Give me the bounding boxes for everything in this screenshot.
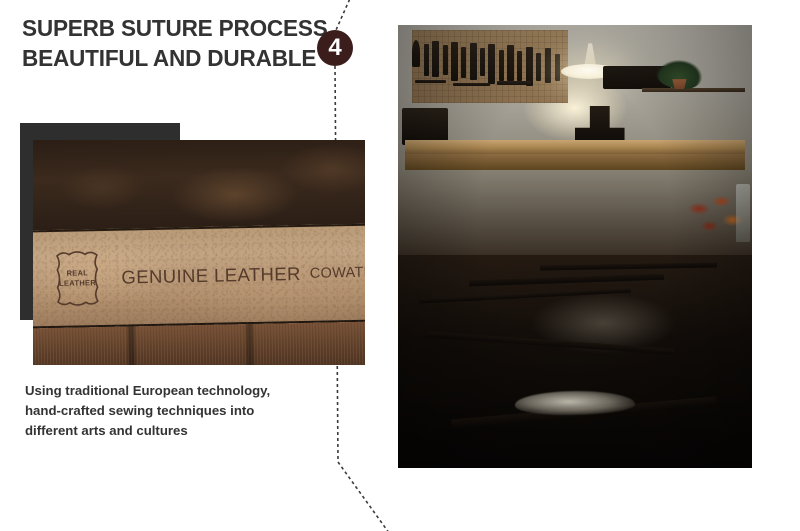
- caption-line-1: Using traditional European technology,: [25, 381, 325, 401]
- brand-name-text: COWATHER: [310, 264, 365, 282]
- caption-line-2: hand-crafted sewing techniques into: [25, 401, 325, 421]
- leather-strip: [419, 288, 631, 303]
- leather-strip: [469, 273, 664, 286]
- leather-strip: [426, 332, 674, 356]
- workshop-photo: [398, 25, 752, 468]
- connector-segment-bottom: [338, 462, 392, 531]
- step-number-label: 4: [328, 36, 341, 60]
- tool-icon: [497, 81, 531, 85]
- tool-icon: [443, 45, 448, 75]
- bottle: [736, 184, 750, 242]
- shield-line-1: REAL: [66, 268, 88, 279]
- leather-press: [575, 106, 625, 143]
- promo-banner: SUPERB SUTURE PROCESS. BEAUTIFUL AND DUR…: [0, 0, 800, 531]
- white-cloth: [515, 391, 635, 414]
- tool-icon: [507, 45, 514, 81]
- real-leather-shield-icon: REAL LEATHER: [49, 247, 106, 310]
- workbench-top: [405, 140, 745, 154]
- page-title-line-1: SUPERB SUTURE PROCESS.: [22, 14, 339, 44]
- tool-icon: [412, 40, 420, 67]
- wall-shelf: [642, 88, 745, 92]
- photo-top-blur-band: [33, 140, 365, 234]
- tool-icon: [555, 54, 560, 81]
- tool-icon: [424, 44, 429, 77]
- shield-text: REAL LEATHER: [49, 247, 106, 310]
- tool-icon: [488, 44, 495, 85]
- leather-stamp-group: REAL LEATHER GENUINE LEATHER ® COWATHER: [33, 223, 365, 328]
- page-title: SUPERB SUTURE PROCESS. BEAUTIFUL AND DUR…: [22, 14, 339, 74]
- tool-icon: [470, 43, 477, 81]
- tool-icon: [517, 51, 522, 81]
- leather-closeup-photo: REAL LEATHER GENUINE LEATHER ® COWATHER: [33, 140, 365, 365]
- workshop-lower-scene: [398, 255, 752, 468]
- brand-mark-group: ® COWATHER: [310, 263, 365, 283]
- tool-icon: [499, 50, 504, 81]
- page-title-line-2: BEAUTIFUL AND DURABLE: [22, 44, 339, 74]
- hanging-tools-group: [409, 39, 579, 117]
- leather-strip: [540, 262, 717, 270]
- tool-icon: [526, 47, 533, 86]
- tool-icon: [432, 41, 439, 77]
- tool-icon: [536, 53, 541, 81]
- caption-line-3: different arts and cultures: [25, 421, 325, 441]
- step-number-badge: 4: [317, 30, 353, 66]
- tool-icon: [480, 48, 485, 76]
- tool-icon: [545, 48, 552, 82]
- tool-icon: [461, 47, 466, 78]
- leather-photo-content: REAL LEATHER GENUINE LEATHER ® COWATHER: [33, 140, 365, 365]
- tool-icon: [415, 80, 446, 84]
- shield-line-2: LEATHER: [59, 278, 96, 289]
- workbench-front: [405, 154, 745, 170]
- caption-text: Using traditional European technology, h…: [25, 381, 325, 441]
- tool-icon: [453, 83, 490, 86]
- tool-icon: [451, 42, 458, 81]
- genuine-leather-text: GENUINE LEATHER: [121, 263, 301, 289]
